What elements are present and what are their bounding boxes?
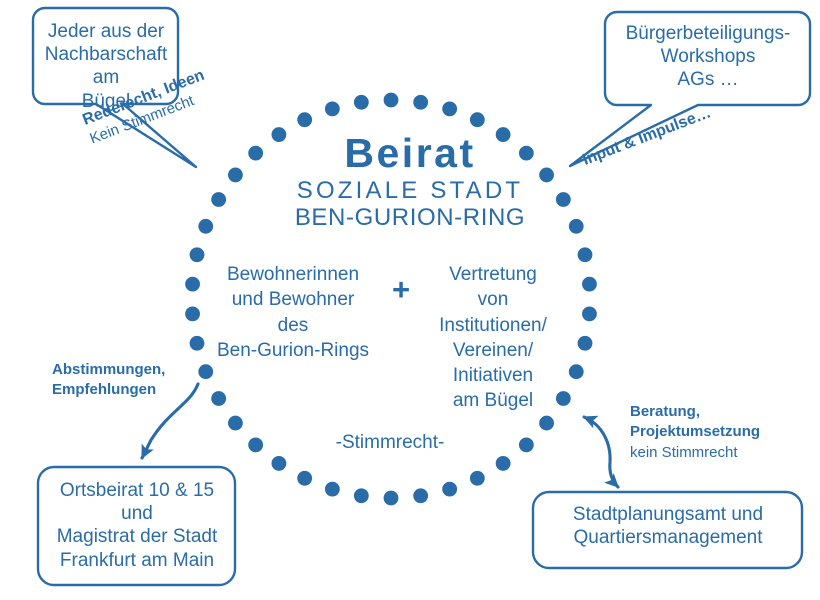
center-column-right: VertretungvonInstitutionen/Vereinen/Init…	[418, 262, 568, 414]
ring-dot	[442, 482, 457, 497]
label-beratung-line3: kein Stimmrecht	[630, 443, 815, 463]
label-beratung-line2: Projektumsetzung	[630, 422, 815, 442]
ring-dot	[496, 456, 511, 471]
ring-dot	[578, 336, 593, 351]
ring-dot	[569, 364, 584, 379]
center-footer-stimmrecht: -Stimmrecht-	[290, 431, 490, 454]
ring-dot	[272, 456, 287, 471]
ring-dot	[297, 471, 312, 486]
ring-dot	[578, 247, 593, 262]
ring-dot	[470, 471, 485, 486]
label-beratung-line1: Beratung,	[630, 402, 815, 422]
ring-dot	[384, 491, 399, 506]
subtitle-soziale-stadt: SOZIALE STADT	[0, 176, 820, 205]
ring-dot	[297, 112, 312, 127]
box-text-bottom-right: Stadtplanungsamt undQuartiersmanagement	[540, 503, 796, 549]
label-beratung: Beratung, Projektumsetzung kein Stimmrec…	[630, 402, 815, 463]
arrow-ring-to-stadtplanungsamt	[584, 417, 618, 487]
ring-dot	[582, 306, 597, 321]
plus-icon: +	[386, 274, 416, 305]
ring-dot	[519, 437, 534, 452]
subtitle-ben-gurion-ring: BEN-GURION-RING	[0, 203, 820, 232]
diagram-canvas: Jeder aus derNachbarschaft amBügel Bürge…	[0, 0, 820, 600]
ring-dot	[325, 482, 340, 497]
ring-dot	[413, 95, 428, 110]
ring-dot	[442, 101, 457, 116]
ring-dot	[354, 488, 369, 503]
ring-dot	[211, 391, 226, 406]
ring-dot	[413, 488, 428, 503]
ring-dot	[582, 277, 597, 292]
ring-dot	[384, 93, 399, 108]
ring-dot	[539, 416, 554, 431]
box-text-bottom-left: Ortsbeirat 10 & 15undMagistrat der Stadt…	[44, 479, 230, 572]
ring-dot	[190, 247, 205, 262]
ring-dot	[354, 95, 369, 110]
ring-dot	[185, 277, 200, 292]
center-column-left: Bewohnerinnenund BewohnerdesBen-Gurion-R…	[203, 262, 383, 363]
ring-dot	[228, 416, 243, 431]
ring-dot	[185, 306, 200, 321]
ring-dot	[325, 101, 340, 116]
label-abstimmungen: Abstimmungen,Empfehlungen	[52, 360, 212, 401]
bubble-text-top-right: Bürgerbeteiligungs-WorkshopsAGs …	[612, 22, 804, 92]
ring-dot	[248, 437, 263, 452]
ring-dot	[470, 112, 485, 127]
